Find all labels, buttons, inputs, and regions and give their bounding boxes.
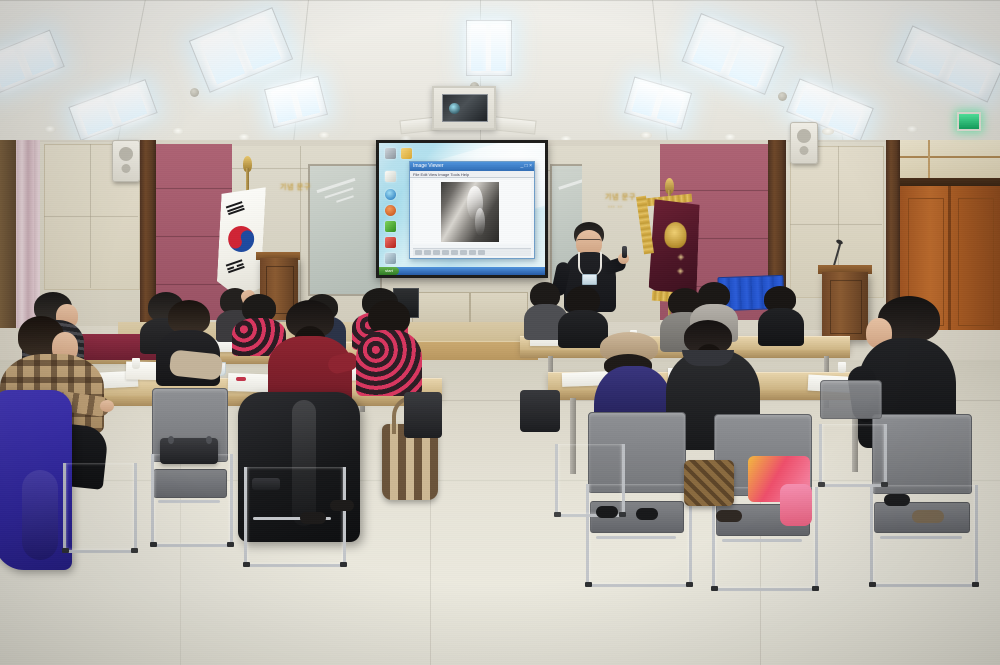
browser-icon[interactable] — [385, 189, 396, 200]
radiograph-image — [441, 182, 499, 242]
ceiling-light-8 — [624, 76, 692, 129]
image-viewer-window[interactable]: _ □ × Image Viewer File Edit View Image … — [409, 161, 535, 259]
window-menubar[interactable]: File Edit View Image Tools Help — [410, 171, 534, 178]
attendee-far-right-left-group — [356, 300, 422, 396]
antivirus-icon[interactable] — [385, 237, 396, 248]
purple-coat-fold — [22, 470, 58, 560]
whiteboard-panel — [308, 164, 382, 296]
image-canvas — [413, 180, 531, 244]
ceiling — [0, 0, 1000, 152]
sprinkler-head — [190, 88, 199, 97]
presentation-remote — [622, 246, 627, 258]
attendee-black-turtleneck-front — [156, 300, 220, 384]
wall-speaker-left — [112, 140, 140, 182]
monogram-handbag — [684, 460, 734, 506]
document-icon[interactable] — [385, 171, 396, 182]
shoe — [884, 494, 910, 506]
wall-lettering-right: 기념 문구 — [605, 192, 636, 202]
attendee-dark-back-right — [758, 286, 804, 344]
ceiling-light-3 — [466, 20, 512, 76]
ceiling-projector — [432, 86, 496, 130]
ceiling-light-1 — [0, 30, 65, 95]
folder-icon[interactable] — [401, 148, 412, 159]
window-title: Image Viewer — [413, 163, 443, 169]
start-button[interactable]: start — [379, 267, 399, 275]
paper-cup — [132, 358, 140, 369]
presenter-lanyard — [578, 252, 602, 276]
presenter-glasses-icon — [577, 239, 601, 245]
presenter-id-badge — [582, 274, 597, 285]
shoe — [300, 512, 326, 524]
chair-left-rear[interactable] — [64, 400, 130, 550]
wall-lettering-left: 기념 문구 — [280, 182, 311, 192]
handbag-dark-left — [404, 392, 442, 438]
ceiling-light-4 — [682, 13, 785, 95]
shoe — [636, 508, 658, 520]
wall-speaker-right — [790, 122, 818, 164]
handbag-right-rear — [520, 390, 560, 432]
media-player-icon[interactable] — [385, 205, 396, 216]
shoe — [330, 500, 354, 511]
window-controls[interactable]: _ □ × — [521, 162, 533, 171]
chair-right-rear-1[interactable] — [556, 394, 618, 514]
exit-sign — [957, 112, 981, 131]
my-computer-icon[interactable] — [385, 148, 396, 159]
hoodie-collar — [682, 350, 734, 366]
sprinkler-head — [778, 92, 787, 101]
ceiling-light-2 — [189, 7, 293, 93]
wall-lettering-right-2: ∙∙∙ ∙∙ — [608, 203, 623, 211]
chair-right-rear-2[interactable] — [820, 380, 880, 484]
projector-lens-icon — [449, 103, 460, 114]
shoe — [912, 510, 944, 523]
projected-desktop: _ □ × Image Viewer File Edit View Image … — [379, 143, 545, 275]
red-marker — [236, 377, 246, 381]
ceiling-light-5 — [896, 25, 1000, 102]
messenger-icon[interactable] — [385, 221, 396, 232]
seminar-room-photo: 기념 문구 기념 문구 ∙∙∙ ∙∙ — [0, 0, 1000, 665]
paper-cup — [838, 362, 846, 373]
chair-occupied-left-2[interactable] — [246, 396, 338, 564]
ceiling-light-6 — [68, 79, 157, 141]
projection-screen: _ □ × Image Viewer File Edit View Image … — [376, 140, 548, 278]
shoe — [596, 506, 618, 518]
shoe — [716, 510, 742, 522]
window-titlebar: _ □ × Image Viewer — [410, 162, 534, 171]
pink-scarf — [780, 484, 812, 526]
window-toolbar[interactable] — [413, 248, 531, 256]
taskbar[interactable]: start — [379, 267, 545, 275]
ceiling-light-7 — [264, 76, 328, 128]
recycle-bin-icon[interactable] — [385, 253, 396, 264]
chair-empty-left-1[interactable] — [152, 388, 226, 544]
